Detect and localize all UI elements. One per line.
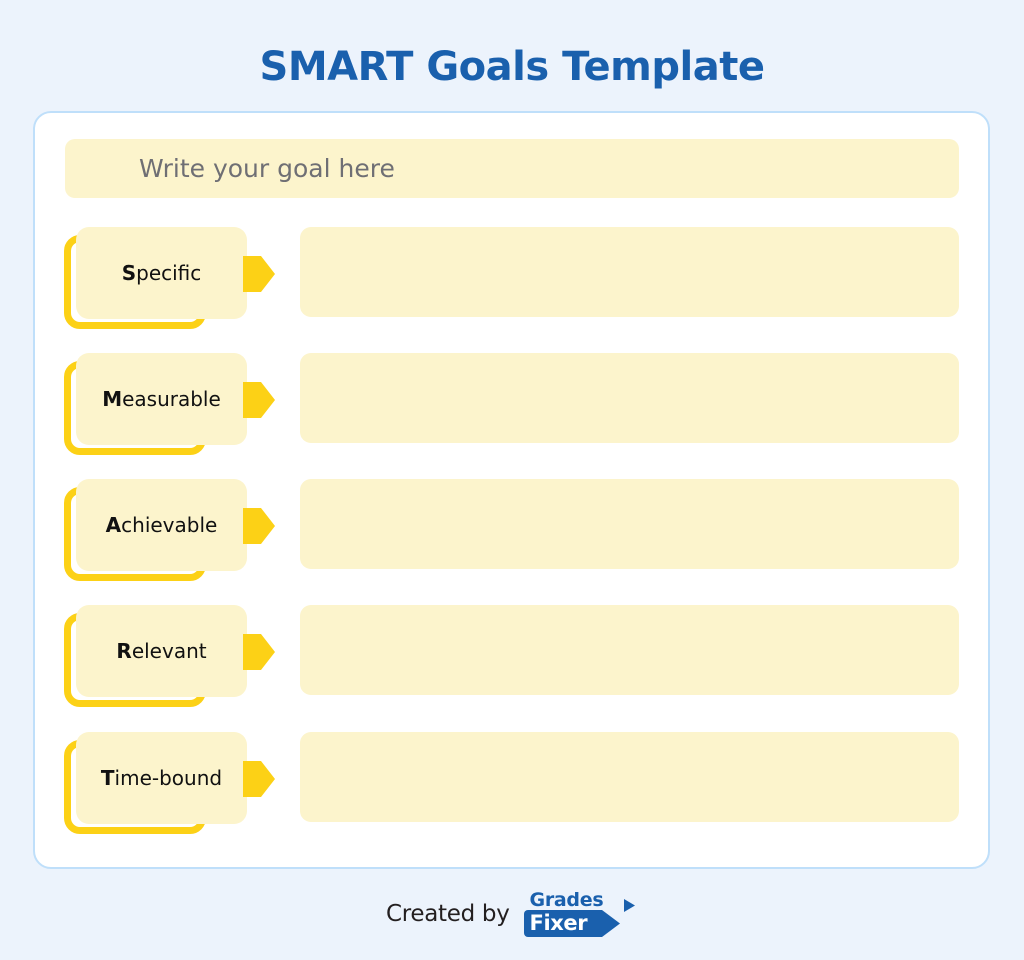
- label-rest-specific: pecific: [136, 261, 201, 285]
- smart-row-relevant: Relevant: [0, 605, 1024, 709]
- arrow-right-icon-achievable: [243, 508, 275, 544]
- logo-tip-triangle-icon: [624, 899, 635, 912]
- page-title: SMART Goals Template: [0, 44, 1024, 90]
- label-initial-specific: S: [122, 261, 136, 285]
- label-initial-relevant: R: [116, 639, 131, 663]
- logo-fixer-text: Fixer: [530, 910, 588, 937]
- smart-row-measurable: Measurable: [0, 353, 1024, 457]
- label-rest-relevant: elevant: [132, 639, 207, 663]
- label-initial-achievable: A: [106, 513, 121, 537]
- goal-input-placeholder: Write your goal here: [139, 139, 395, 198]
- arrow-right-icon-measurable: [243, 382, 275, 418]
- arrow-right-icon-specific: [243, 256, 275, 292]
- label-text-measurable: Measurable: [76, 353, 247, 445]
- smart-row-specific: Specific: [0, 227, 1024, 331]
- label-text-relevant: Relevant: [76, 605, 247, 697]
- arrow-right-icon-relevant: [243, 634, 275, 670]
- label-initial-measurable: M: [102, 387, 122, 411]
- label-group-relevant: Relevant: [64, 605, 264, 709]
- label-group-specific: Specific: [64, 227, 264, 331]
- label-rest-measurable: easurable: [122, 387, 221, 411]
- label-text-specific: Specific: [76, 227, 247, 319]
- smart-row-time-bound: Time-bound: [0, 732, 1024, 836]
- content-input-measurable[interactable]: [300, 353, 959, 443]
- content-input-achievable[interactable]: [300, 479, 959, 569]
- content-input-relevant[interactable]: [300, 605, 959, 695]
- label-group-measurable: Measurable: [64, 353, 264, 457]
- gradesfixer-logo[interactable]: Grades Fixer: [524, 891, 636, 937]
- label-group-time-bound: Time-bound: [64, 732, 264, 836]
- label-initial-time-bound: T: [101, 766, 115, 790]
- footer: Created by Grades Fixer: [0, 891, 1024, 941]
- created-by-label: Created by: [386, 901, 510, 927]
- arrow-right-icon-time-bound: [243, 761, 275, 797]
- goal-input-field[interactable]: Write your goal here: [65, 139, 959, 198]
- logo-grades-text: Grades: [530, 889, 604, 911]
- content-input-specific[interactable]: [300, 227, 959, 317]
- content-input-time-bound[interactable]: [300, 732, 959, 822]
- label-text-time-bound: Time-bound: [76, 732, 247, 824]
- label-rest-time-bound: ime-bound: [115, 766, 223, 790]
- label-rest-achievable: chievable: [121, 513, 217, 537]
- smart-row-achievable: Achievable: [0, 479, 1024, 583]
- label-text-achievable: Achievable: [76, 479, 247, 571]
- label-group-achievable: Achievable: [64, 479, 264, 583]
